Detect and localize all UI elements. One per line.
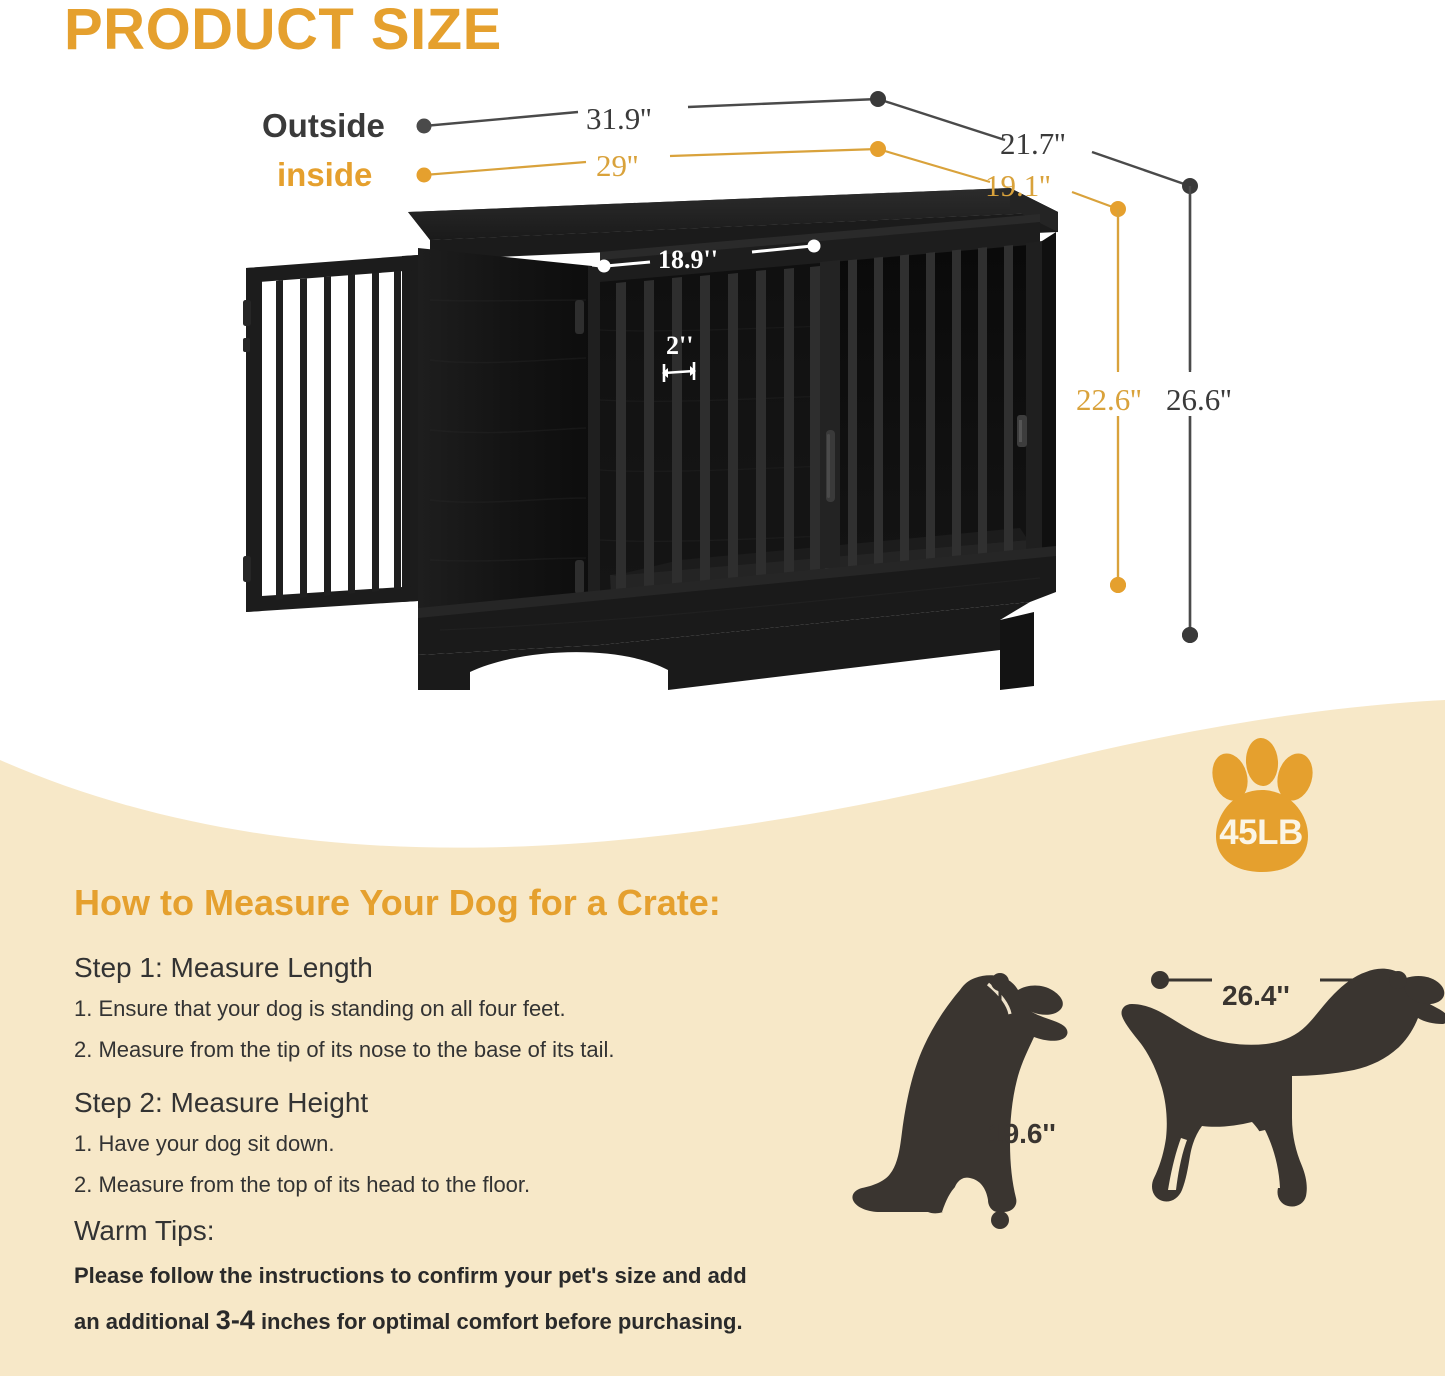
paw-print-icon bbox=[1186, 735, 1336, 885]
step-1-item-2: 2. Measure from the tip of its nose to t… bbox=[74, 1037, 615, 1063]
warm-tips-line-1: Please follow the instructions to confir… bbox=[74, 1263, 747, 1289]
weight-capacity-badge: 45LB bbox=[1186, 735, 1336, 885]
step-2-heading: Step 2: Measure Height bbox=[74, 1087, 368, 1119]
warm-tips-heading: Warm Tips: bbox=[74, 1215, 215, 1247]
dimension-outside-depth: 21.7'' bbox=[1000, 126, 1065, 162]
howto-section-title: How to Measure Your Dog for a Crate: bbox=[74, 882, 721, 924]
dog-height-value: 19.6'' bbox=[988, 1118, 1056, 1150]
step-1-heading: Step 1: Measure Length bbox=[74, 952, 373, 984]
dimension-door-width: 18.9'' bbox=[658, 245, 718, 275]
step-2-item-2: 2. Measure from the top of its head to t… bbox=[74, 1172, 530, 1198]
dog-length-value: 26.4'' bbox=[1222, 980, 1290, 1012]
dog-measurement-diagram bbox=[760, 950, 1445, 1290]
weight-capacity-value: 45LB bbox=[1186, 813, 1336, 853]
product-size-diagram: Outside inside 31.9'' 29'' 21.7'' 19.1''… bbox=[0, 0, 1445, 720]
dimension-outside-width: 31.9'' bbox=[586, 101, 651, 137]
step-1-item-1: 1. Ensure that your dog is standing on a… bbox=[74, 996, 566, 1022]
dog-crate-illustration bbox=[0, 0, 1445, 720]
dimension-inside-depth: 19.1'' bbox=[985, 168, 1050, 204]
dimension-inside-height: 22.6'' bbox=[1076, 382, 1141, 418]
dimension-bar-spacing: 2'' bbox=[666, 331, 693, 361]
infographic-root: PRODUCT SIZE bbox=[0, 0, 1445, 1376]
dog-sitting-silhouette-icon bbox=[852, 975, 1067, 1213]
warm-tips-line-2-suffix: inches for optimal comfort before purcha… bbox=[255, 1309, 743, 1334]
dog-diagram-graphics bbox=[760, 950, 1445, 1290]
warm-tips-line-2: an additional 3-4 inches for optimal com… bbox=[74, 1305, 743, 1336]
warm-tips-line-2-prefix: an additional bbox=[74, 1309, 216, 1334]
warm-tips-inches-emphasis: 3-4 bbox=[216, 1305, 255, 1335]
dimension-outside-height: 26.6'' bbox=[1166, 382, 1231, 418]
dimension-inside-width: 29'' bbox=[596, 148, 638, 184]
legend-outside-label: Outside bbox=[262, 107, 385, 145]
legend-inside-label: inside bbox=[277, 156, 372, 194]
step-2-item-1: 1. Have your dog sit down. bbox=[74, 1131, 334, 1157]
